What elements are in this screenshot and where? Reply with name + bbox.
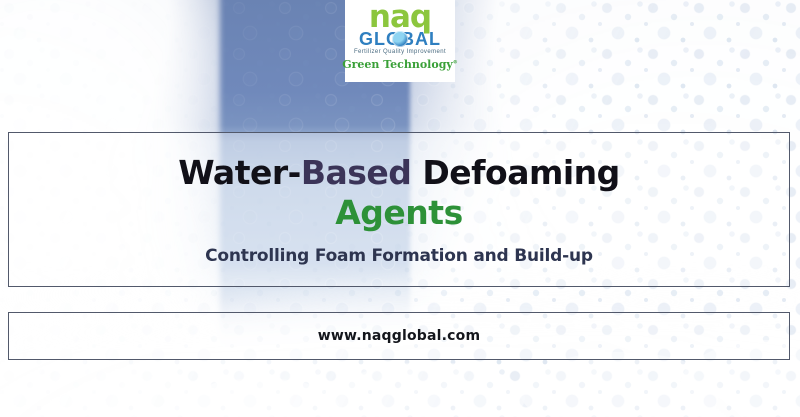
logo-global-row: GLOBAL (345, 30, 455, 48)
logo-green-technology: Green Technology® (342, 58, 458, 71)
headline-line-2: Agents (335, 193, 462, 233)
website-panel: www.naqglobal.com (8, 312, 790, 360)
headline-word-defoaming: Defoaming (411, 153, 619, 192)
registered-mark: ® (453, 59, 458, 65)
logo-green-technology-text: Green Technology (342, 58, 453, 71)
subtitle: Controlling Foam Formation and Build-up (205, 245, 593, 267)
headline-panel: Water-Based Defoaming Agents Controlling… (8, 132, 790, 287)
globe-icon (392, 31, 408, 47)
headline-word-water: Water- (178, 153, 301, 192)
headline-word-based: Based (301, 153, 412, 192)
logo-tagline: Fertilizer Quality Improvement (354, 49, 446, 55)
logo-wordmark: naq (369, 3, 431, 32)
promotional-banner: naq GLOBAL Fertilizer Quality Improvemen… (0, 0, 800, 417)
headline-line-1: Water-Based Defoaming (178, 153, 620, 193)
website-url[interactable]: www.naqglobal.com (318, 328, 481, 344)
brand-logo[interactable]: naq GLOBAL Fertilizer Quality Improvemen… (345, 0, 455, 82)
